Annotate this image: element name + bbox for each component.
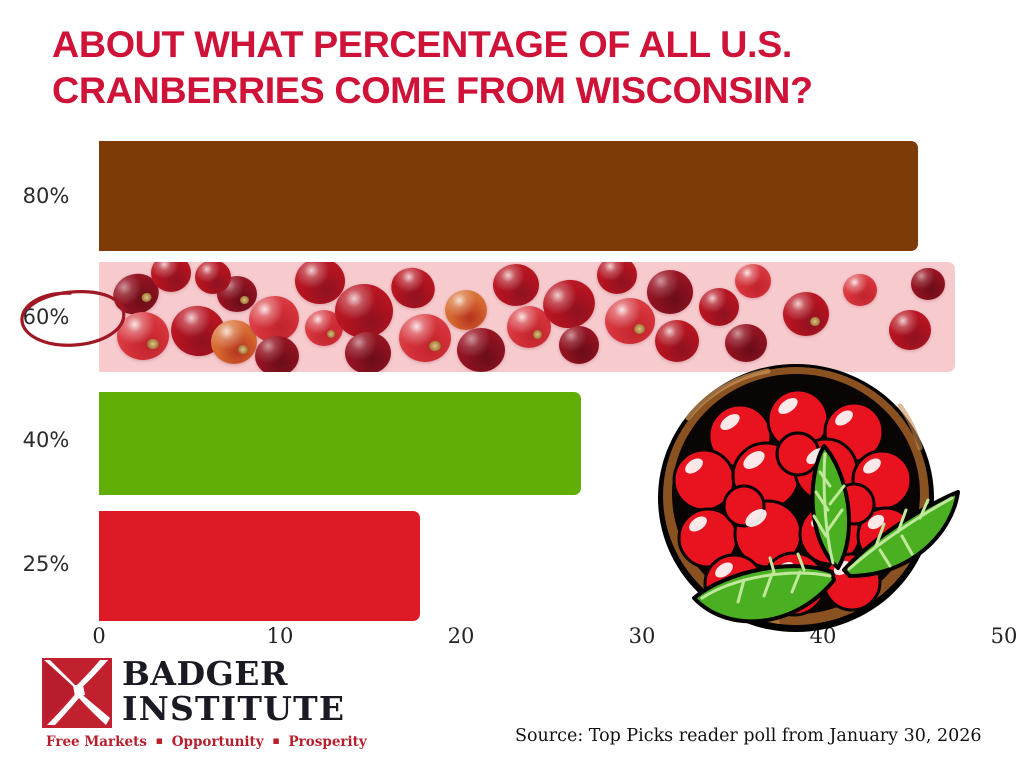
tagline-separator-1: ▪ bbox=[152, 734, 167, 747]
tagline-separator-2: ▪ bbox=[268, 734, 283, 747]
x-axis-tick-10: 10 bbox=[250, 624, 310, 648]
logo-wordmark: BADGER INSTITUTE bbox=[122, 656, 345, 726]
tagline-prosperity: Prosperity bbox=[289, 734, 367, 750]
x-axis-tick-50: 50 bbox=[974, 624, 1024, 648]
y-axis-label-60: 60% bbox=[0, 305, 92, 329]
cranberry-bowl-illustration bbox=[648, 358, 964, 664]
logo-tagline: Free Markets ▪ Opportunity ▪ Prosperity bbox=[46, 734, 367, 750]
y-axis-label-40: 40% bbox=[0, 428, 92, 452]
bar-row-80 bbox=[99, 141, 918, 251]
y-axis-label-25: 25% bbox=[0, 552, 92, 576]
badger-institute-logo[interactable]: BADGER INSTITUTE Free Markets ▪ Opportun… bbox=[42, 658, 332, 754]
logo-line-2: INSTITUTE bbox=[122, 691, 345, 726]
x-axis-tick-0: 0 bbox=[69, 624, 129, 648]
bar-row-40 bbox=[99, 392, 581, 495]
bar-row-25 bbox=[99, 511, 420, 621]
logo-line-1: BADGER bbox=[122, 656, 345, 691]
x-axis-tick-20: 20 bbox=[431, 624, 491, 648]
tagline-opportunity: Opportunity bbox=[172, 734, 264, 750]
tagline-free-markets: Free Markets bbox=[46, 734, 147, 750]
source-note: Source: Top Picks reader poll from Janua… bbox=[515, 726, 982, 746]
y-axis-label-80: 80% bbox=[0, 184, 92, 208]
infographic-poster: ABOUT WHAT PERCENTAGE OF ALL U.S. CRANBE… bbox=[0, 0, 1024, 768]
bar-row-60 bbox=[99, 262, 955, 372]
badger-pickaxe-icon bbox=[42, 658, 112, 728]
